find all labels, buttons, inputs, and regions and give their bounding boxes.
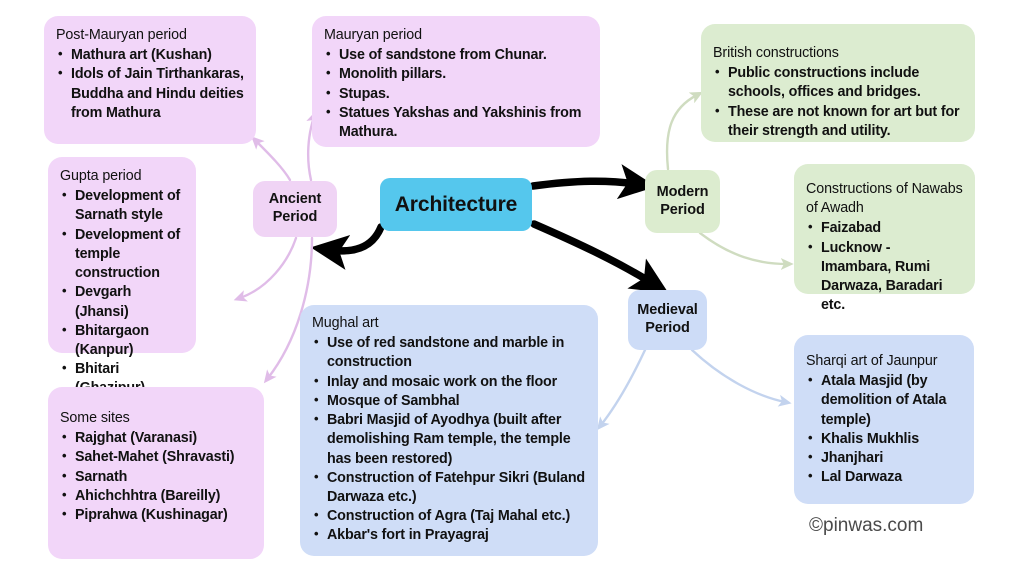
card-mauryan-list: Use of sandstone from Chunar. Monolith p… xyxy=(324,46,588,142)
list-item: Devgarh (Jhansi) xyxy=(60,283,184,321)
card-post-mauryan[interactable]: Post-Mauryan period Mathura art (Kushan)… xyxy=(44,16,256,144)
card-mauryan[interactable]: Mauryan period Use of sandstone from Chu… xyxy=(312,16,600,147)
card-some-sites[interactable]: Some sites Rajghat (Varanasi) Sahet-Mahe… xyxy=(48,387,264,559)
node-modern-period-label: ModernPeriod xyxy=(657,184,709,219)
card-mughal-art[interactable]: Mughal art Use of red sandstone and marb… xyxy=(300,305,598,556)
edge-architecture-to-medieval xyxy=(534,224,652,283)
edge-modern-to-nawabs xyxy=(700,233,787,264)
list-item: Use of sandstone from Chunar. xyxy=(324,46,588,65)
list-item: Sahet-Mahet (Shravasti) xyxy=(60,448,252,467)
edge-modern-to-british xyxy=(667,95,697,169)
edge-medieval-to-mughal xyxy=(601,350,645,425)
list-item: Construction of Fatehpur Sikri (Buland D… xyxy=(312,469,586,507)
list-item: Piprahwa (Kushinagar) xyxy=(60,506,252,525)
edge-ancient-to-gupta xyxy=(240,238,296,298)
card-mughal-title: Mughal art xyxy=(312,314,586,333)
card-post-mauryan-list: Mathura art (Kushan) Idols of Jain Tirth… xyxy=(56,46,244,123)
list-item: These are not known for art but for thei… xyxy=(713,103,963,141)
card-sharqi-art[interactable]: Sharqi art of Jaunpur Atala Masjid (by d… xyxy=(794,335,974,504)
list-item: Faizabad xyxy=(806,219,963,238)
card-nawabs-of-awadh[interactable]: Constructions of Nawabs of Awadh Faizaba… xyxy=(794,164,975,294)
list-item: Lal Darwaza xyxy=(806,468,962,487)
mindmap-canvas: Post-Mauryan period Mathura art (Kushan)… xyxy=(0,0,1024,576)
list-item: Idols of Jain Tirthankaras, Buddha and H… xyxy=(56,65,244,123)
list-item: Ahichchhtra (Bareilly) xyxy=(60,487,252,506)
list-item: Construction of Agra (Taj Mahal etc.) xyxy=(312,507,586,526)
card-nawabs-title: Constructions of Nawabs of Awadh xyxy=(806,180,963,218)
card-gupta-title: Gupta period xyxy=(60,167,184,186)
list-item: Lucknow - Imambara, Rumi Darwaza, Barada… xyxy=(806,239,963,316)
list-item: Mathura art (Kushan) xyxy=(56,46,244,65)
edge-medieval-to-sharqi xyxy=(692,350,785,402)
card-british-title: British constructions xyxy=(713,44,963,63)
list-item: Bhitargaon (Kanpur) xyxy=(60,322,184,360)
node-medieval-period[interactable]: MedievalPeriod xyxy=(628,290,707,350)
list-item: Monolith pillars. xyxy=(324,65,588,84)
list-item: Public constructions include schools, of… xyxy=(713,64,963,102)
card-post-mauryan-title: Post-Mauryan period xyxy=(56,26,244,45)
list-item: Use of red sandstone and marble in const… xyxy=(312,334,586,372)
card-gupta-list: Development of Sarnath style Development… xyxy=(60,187,184,398)
list-item: Babri Masjid of Ayodhya (built after dem… xyxy=(312,411,586,469)
node-architecture-label: Architecture xyxy=(395,192,518,218)
watermark: ©pinwas.com xyxy=(809,515,923,537)
list-item: Development of Sarnath style xyxy=(60,187,184,225)
card-gupta[interactable]: Gupta period Development of Sarnath styl… xyxy=(48,157,196,353)
list-item: Development of temple construction xyxy=(60,226,184,284)
card-nawabs-list: Faizabad Lucknow - Imambara, Rumi Darwaz… xyxy=(806,219,963,315)
list-item: Statues Yakshas and Yakshinis from Mathu… xyxy=(324,104,588,142)
node-ancient-period-label: AncientPeriod xyxy=(269,191,321,226)
edge-architecture-to-modern xyxy=(533,181,637,186)
card-sharqi-title: Sharqi art of Jaunpur xyxy=(806,352,962,371)
list-item: Inlay and mosaic work on the floor xyxy=(312,373,586,392)
list-item: Rajghat (Varanasi) xyxy=(60,429,252,448)
card-british-list: Public constructions include schools, of… xyxy=(713,64,963,141)
card-mughal-list: Use of red sandstone and marble in const… xyxy=(312,334,586,545)
card-british-constructions[interactable]: British constructions Public constructio… xyxy=(701,24,975,142)
list-item: Sarnath xyxy=(60,468,252,487)
edge-architecture-to-ancient xyxy=(330,227,381,251)
card-some-sites-title: Some sites xyxy=(60,409,252,428)
card-some-sites-list: Rajghat (Varanasi) Sahet-Mahet (Shravast… xyxy=(60,429,252,525)
node-ancient-period[interactable]: AncientPeriod xyxy=(253,181,337,237)
card-mauryan-title: Mauryan period xyxy=(324,26,588,45)
list-item: Atala Masjid (by demolition of Atala tem… xyxy=(806,372,962,430)
node-architecture[interactable]: Architecture xyxy=(380,178,532,231)
list-item: Stupas. xyxy=(324,85,588,104)
list-item: Jhanjhari xyxy=(806,449,962,468)
list-item: Akbar's fort in Prayagraj xyxy=(312,526,586,545)
card-sharqi-list: Atala Masjid (by demolition of Atala tem… xyxy=(806,372,962,487)
node-medieval-period-label: MedievalPeriod xyxy=(637,302,697,337)
edge-ancient-to-post-mauryan xyxy=(256,141,290,180)
list-item: Khalis Mukhlis xyxy=(806,430,962,449)
node-modern-period[interactable]: ModernPeriod xyxy=(645,170,720,233)
list-item: Mosque of Sambhal xyxy=(312,392,586,411)
